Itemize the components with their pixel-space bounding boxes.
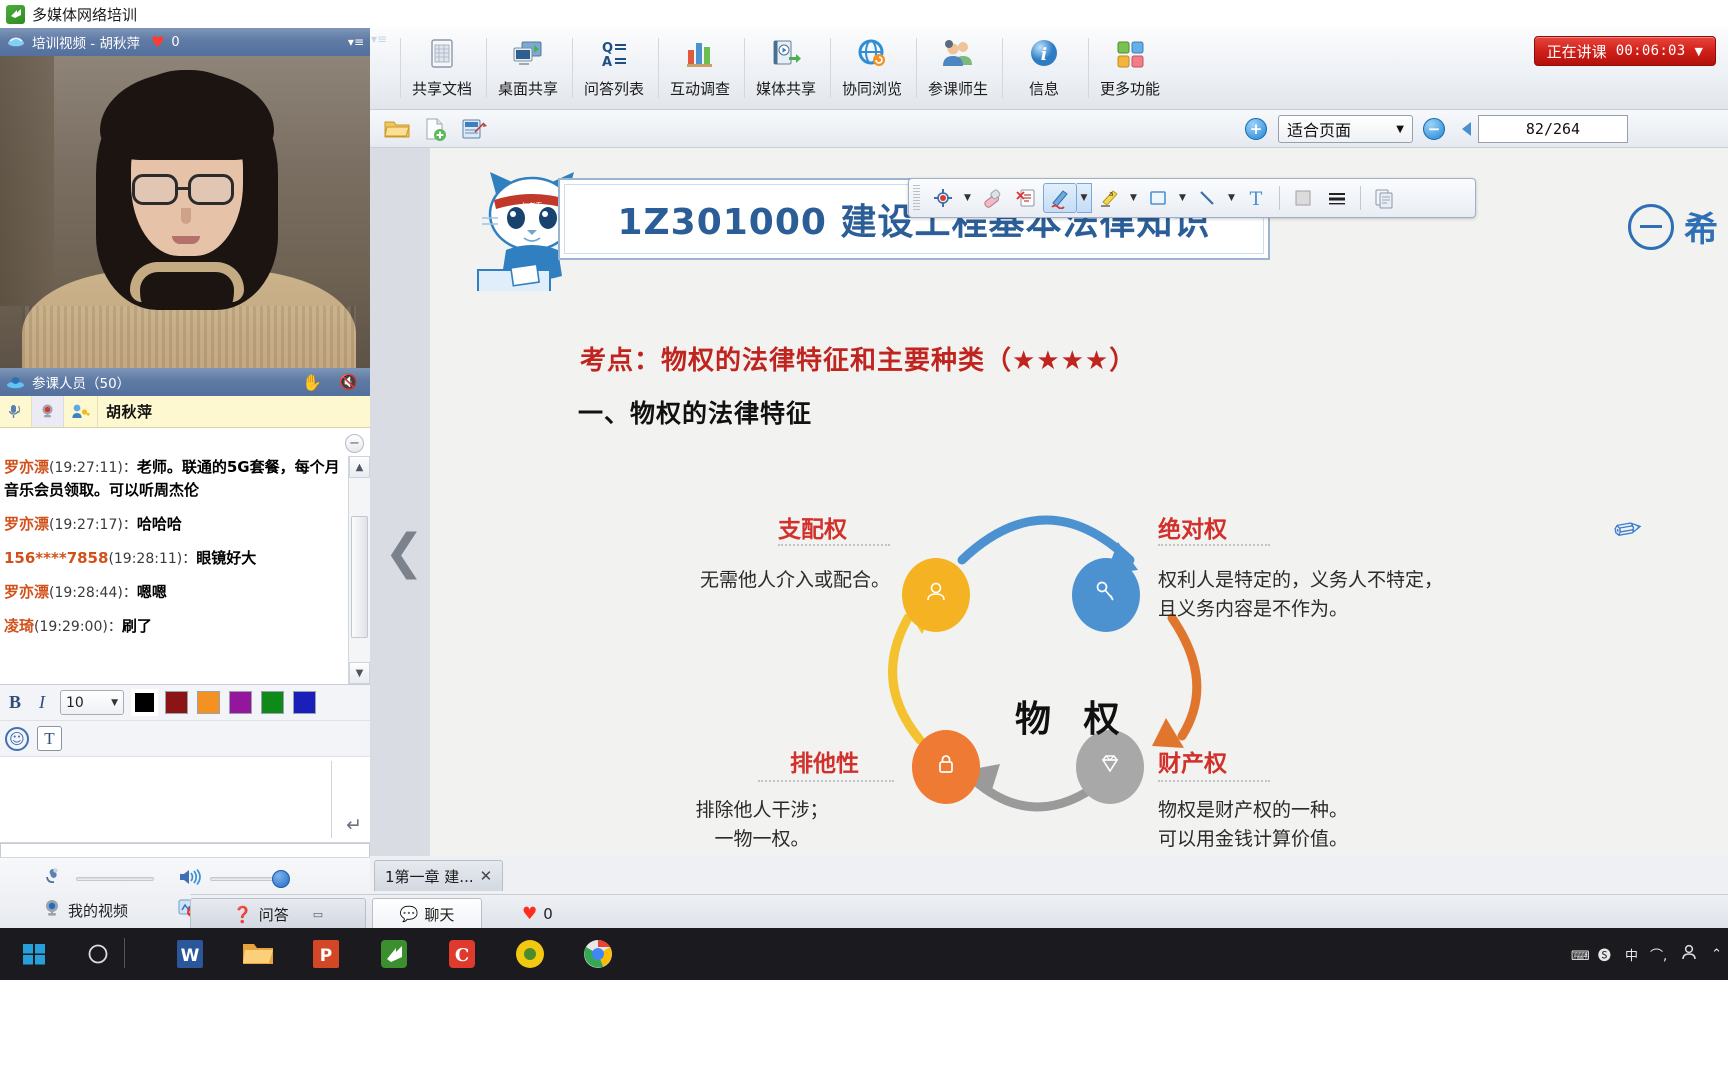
chat-message: 罗亦漂(19:27:11)：老师。联通的5G套餐，每个月音乐会员领取。可以听周杰…: [4, 456, 342, 502]
color-swatch-blue[interactable]: [293, 691, 316, 714]
page-indicator[interactable]: 82/264: [1478, 115, 1628, 143]
chat-time: (19:28:11): [108, 551, 182, 567]
chat-message: 罗亦漂(19:28:44)：嗯嗯: [4, 581, 342, 604]
brand-text: 希: [1684, 202, 1718, 251]
chat-time: (19:28:44): [49, 585, 123, 601]
c-app-icon[interactable]: C: [442, 934, 482, 974]
system-tray: ⌨ 🅢 中 ⌒, ⌃: [1571, 932, 1722, 976]
highlighter-icon[interactable]: a: [1092, 183, 1126, 213]
slide-prev-strip[interactable]: ❮: [370, 148, 430, 856]
ribbon-label: 参课师生: [928, 78, 988, 99]
heart-count: 0: [171, 35, 179, 50]
lock-icon: [934, 752, 958, 782]
slide-area: ❮ 仁者寿: [370, 148, 1728, 894]
qa-list-icon: QA: [594, 34, 634, 74]
collapse-icon[interactable]: −: [345, 434, 364, 453]
co-browse-icon: [852, 34, 892, 74]
open-folder-icon[interactable]: [382, 115, 412, 143]
video-panel-title: 培训视频 - 胡秋萍: [32, 32, 140, 52]
participants-icon: [6, 374, 25, 391]
file-explorer-icon[interactable]: [238, 934, 278, 974]
ribbon-item-attendees[interactable]: 参课师生: [918, 34, 998, 106]
app-logo-icon: [6, 5, 25, 24]
zoom-level-value: 适合页面: [1287, 117, 1351, 141]
my-video-icon[interactable]: [42, 898, 62, 922]
diagram-label-3: 财产权: [1158, 744, 1227, 778]
svg-text:T: T: [1250, 188, 1263, 209]
speaker-icon[interactable]: [178, 866, 202, 892]
text-tool-icon[interactable]: T: [1239, 183, 1273, 213]
fill-color-icon[interactable]: [1286, 183, 1320, 213]
chevron-down-icon: ▼: [111, 698, 118, 708]
zoom-out-icon[interactable]: −: [1423, 118, 1445, 140]
close-icon[interactable]: ✕: [480, 867, 493, 885]
heart-counter: ♥ 0: [522, 904, 553, 924]
bottom-tab-bar: ❓ 问答 ▭ 💬 聊天 ♥ 0: [190, 894, 1728, 928]
svg-text:W: W: [181, 946, 200, 966]
ribbon-label: 协同浏览: [842, 78, 902, 99]
chat-user: 凌琦: [4, 617, 34, 635]
diagram-desc-1: 权利人是特定的，义务人不特定，且义务内容是不作为。: [1158, 566, 1628, 623]
training-app-icon[interactable]: [374, 934, 414, 974]
raise-hand-icon[interactable]: ✋: [302, 373, 322, 392]
ribbon-label: 互动调查: [670, 78, 730, 99]
heart-icon: ♥: [151, 33, 164, 51]
chat-text: 哈哈哈: [137, 515, 182, 533]
chat-user: 156****7858: [4, 549, 108, 567]
chat-user: 罗亦漂: [4, 458, 49, 476]
chat-log: − 罗亦漂(19:27:11)：老师。联通的5G套餐，每个月音乐会员领取。可以听…: [0, 428, 370, 685]
participants-header: 参课人员（50） ✋ 🔇: [0, 368, 370, 396]
diagram-node-paitaxing: [912, 730, 980, 804]
color-swatch-green[interactable]: [261, 691, 284, 714]
svg-text:A: A: [602, 55, 612, 70]
status-timer: 00:06:03: [1616, 43, 1686, 59]
participant-row-speaker[interactable]: 胡秋萍: [0, 396, 370, 428]
app-title-bar: 多媒体网络培训: [0, 0, 1728, 28]
webcam-icon[interactable]: [32, 396, 64, 427]
eraser-icon[interactable]: [975, 183, 1009, 213]
chrome-icon[interactable]: [578, 934, 618, 974]
main-area: ▾≡ 共享文档 桌面共享 QA 问答列表 互动调查: [370, 28, 1728, 894]
attendees-icon: [938, 34, 978, 74]
diagram-desc-0: 无需他人介入或配合。: [550, 566, 890, 595]
my-video-label[interactable]: 我的视频: [68, 900, 128, 921]
copy-slide-icon[interactable]: [1367, 183, 1401, 213]
slide-heading: 一、物权的法律特征: [578, 394, 812, 430]
diagram-node-juedui: [1072, 558, 1140, 632]
ribbon-item-media-share[interactable]: 媒体共享: [746, 34, 826, 106]
color-swatch-black[interactable]: [133, 691, 156, 714]
shared-document-icon: [422, 34, 462, 74]
person-icon: [923, 579, 949, 611]
clear-annotations-icon[interactable]: [1009, 183, 1043, 213]
text-format-icon[interactable]: T: [37, 726, 62, 751]
info-icon: i: [1024, 34, 1064, 74]
font-size-select[interactable]: 10 ▼: [60, 690, 124, 715]
previous-slide-icon[interactable]: ❮: [384, 528, 424, 576]
chat-user: 罗亦漂: [4, 583, 49, 601]
taskbar-strip: W P C ⌨ 🅢 中 ⌒, ⌃: [0, 928, 1728, 980]
font-size-value: 10: [66, 695, 84, 711]
chat-text: 眼镜好大: [196, 549, 256, 567]
chat-time: (19:29:00): [34, 619, 108, 635]
smiley-icon[interactable]: ☺: [5, 727, 29, 751]
word-icon[interactable]: W: [170, 934, 210, 974]
svg-text:仁者寿: 仁者寿: [522, 201, 543, 210]
ribbon-label: 更多功能: [1100, 78, 1160, 99]
chat-text: 嗯嗯: [137, 583, 167, 601]
new-document-icon[interactable]: [420, 115, 450, 143]
video-camera-icon: [6, 34, 25, 51]
convert-document-icon[interactable]: [458, 115, 488, 143]
status-label: 正在讲课: [1547, 41, 1607, 62]
ribbon-label: 信息: [1029, 78, 1059, 99]
search-circle-icon[interactable]: [78, 934, 118, 974]
svg-text:P: P: [320, 946, 332, 966]
diagram-desc-3: 物权是财产权的一种。可以用金钱计算价值。: [1158, 796, 1628, 853]
pen-icon[interactable]: [1043, 183, 1077, 213]
annotation-toolbar: ▼ ▼ a ▼ ▼: [908, 178, 1476, 218]
italic-button[interactable]: I: [33, 692, 51, 713]
diagram-label-2: 排他性: [790, 744, 859, 778]
speaker-slider-knob[interactable]: [272, 870, 290, 888]
scroll-down-icon[interactable]: ▼: [349, 662, 370, 684]
microphone-icon[interactable]: [42, 866, 64, 892]
mute-all-icon[interactable]: 🔇: [339, 373, 358, 391]
color-swatch-darkred[interactable]: [165, 691, 188, 714]
document-navbar: + 适合页面 ▼ − 82/264: [370, 110, 1728, 148]
chat-time: (19:27:17): [49, 517, 123, 533]
chat-bubble-icon: 💬: [400, 905, 419, 923]
panel-menu-icon[interactable]: ▾≡: [348, 35, 364, 49]
browser-green-icon[interactable]: [510, 934, 550, 974]
participants-title: 参课人员（50）: [32, 372, 130, 392]
chevron-up-icon[interactable]: ⌃: [1711, 947, 1722, 962]
chat-message: 156****7858(19:28:11)：眼镜好大: [4, 547, 342, 570]
document-tab[interactable]: 1第一章 建... ✕: [374, 860, 503, 891]
microphone-icon[interactable]: [0, 396, 32, 427]
laser-pointer-icon[interactable]: [926, 183, 960, 213]
left-panel: 培训视频 - 胡秋萍 ♥ 0 ▾≡ 参课人员（50） ✋ 🔇: [0, 28, 370, 928]
survey-chart-icon: [680, 34, 720, 74]
color-swatch-purple[interactable]: [229, 691, 252, 714]
svg-text:Q: Q: [602, 41, 613, 56]
ime-icon[interactable]: 中: [1625, 945, 1638, 964]
app-title: 多媒体网络培训: [32, 4, 137, 25]
chat-message-list: 罗亦漂(19:27:11)：老师。联通的5G套餐，每个月音乐会员领取。可以听周杰…: [4, 456, 342, 649]
restore-window-icon[interactable]: ▭: [313, 908, 323, 921]
bold-button[interactable]: B: [6, 692, 24, 713]
chat-time: (19:27:11): [49, 460, 123, 476]
ribbon-collapse-icon[interactable]: ▾≡: [370, 28, 388, 50]
scroll-up-icon[interactable]: ▲: [349, 456, 370, 478]
qa-icon: ❓: [233, 905, 253, 924]
tab-chat-label: 聊天: [424, 904, 454, 925]
video-panel-header: 培训视频 - 胡秋萍 ♥ 0 ▾≡: [0, 28, 370, 56]
diamond-icon: [1097, 753, 1123, 781]
page-indicator-value: 82/264: [1526, 120, 1580, 138]
ribbon-item-desktop-share[interactable]: 桌面共享: [488, 34, 568, 106]
status-button-teaching[interactable]: 正在讲课 00:06:03 ▼: [1534, 36, 1716, 66]
tab-chat[interactable]: 💬 聊天: [372, 898, 482, 929]
diagram-node-zhipeiquan: [902, 558, 970, 632]
chevron-down-icon[interactable]: ▼: [1224, 183, 1239, 213]
chevron-down-icon[interactable]: ▼: [1077, 183, 1092, 213]
slide-canvas[interactable]: 仁者寿 1Z301000 建设工程基本法律知识 希: [430, 148, 1728, 856]
chevron-down-icon[interactable]: ▼: [1126, 183, 1141, 213]
chevron-down-icon[interactable]: ▼: [1175, 183, 1190, 213]
color-swatch-orange[interactable]: [197, 691, 220, 714]
powerpoint-icon[interactable]: P: [306, 934, 346, 974]
svg-text:i: i: [1041, 45, 1047, 65]
slide-keypoint: 考点：物权的法律特征和主要种类（★★★★）: [580, 340, 1136, 377]
chevron-down-icon[interactable]: ▼: [960, 183, 975, 213]
tray-icons[interactable]: ⌨ 🅢: [1571, 945, 1613, 964]
ribbon-item-qa-list[interactable]: QA 问答列表: [574, 34, 654, 106]
chat-message: 罗亦漂(19:27:17)：哈哈哈: [4, 513, 342, 536]
rectangle-icon[interactable]: [1141, 183, 1175, 213]
line-icon[interactable]: [1190, 183, 1224, 213]
document-tab-label: 1第一章 建...: [385, 866, 474, 887]
scrollbar-thumb[interactable]: [351, 516, 368, 638]
drag-grip-icon[interactable]: [913, 185, 920, 211]
ribbon-toolbar: ▾≡ 共享文档 桌面共享 QA 问答列表 互动调查: [370, 28, 1728, 110]
svg-text:a: a: [1109, 190, 1113, 198]
chat-insert-toolbar: ☺ T: [0, 721, 370, 757]
diagram-center-label: 物 权: [1015, 690, 1130, 742]
line-weight-icon[interactable]: [1320, 183, 1354, 213]
ribbon-item-co-browse[interactable]: 协同浏览: [832, 34, 912, 106]
chat-message: 凌琦(19:29:00)：刷了: [4, 615, 342, 638]
zoom-level-select[interactable]: 适合页面 ▼: [1278, 115, 1413, 143]
brand-ring-icon: [1628, 204, 1674, 250]
participant-name: 胡秋萍: [106, 401, 153, 422]
ribbon-label: 共享文档: [412, 78, 472, 99]
chevron-down-icon: ▼: [1396, 124, 1404, 135]
chat-scrollbar[interactable]: ▲ ▼: [348, 456, 370, 684]
chat-user: 罗亦漂: [4, 515, 49, 533]
microphone-slider[interactable]: [76, 877, 154, 881]
windows-start-icon[interactable]: [14, 934, 54, 974]
chat-text: 刷了: [122, 617, 152, 635]
tab-qa-label: 问答: [259, 904, 289, 925]
windows-taskbar: W P C ⌨ 🅢 中 ⌒, ⌃: [0, 928, 1728, 1080]
ribbon-item-more[interactable]: 更多功能: [1090, 34, 1170, 106]
ribbon-item-survey[interactable]: 互动调查: [660, 34, 740, 106]
video-feed: [0, 56, 370, 368]
heart-count: 0: [543, 905, 553, 923]
ribbon-label: 桌面共享: [498, 78, 558, 99]
chat-compose-area[interactable]: ↵: [0, 757, 370, 843]
ribbon-label: 问答列表: [584, 78, 644, 99]
diagram-label-0: 支配权: [778, 510, 847, 544]
diagram-label-1: 绝对权: [1158, 510, 1227, 544]
user-account-icon[interactable]: [1679, 942, 1699, 966]
chevron-down-icon[interactable]: ▼: [1695, 45, 1703, 58]
diagram-desc-2: 排除他人干涉；一物一权。: [630, 796, 894, 853]
ribbon-item-info[interactable]: i 信息: [1004, 34, 1084, 106]
presenter-key-icon: [64, 396, 98, 427]
heart-icon: ♥: [522, 904, 537, 924]
ribbon-item-shared-document[interactable]: 共享文档: [402, 34, 482, 106]
svg-text:C: C: [455, 945, 469, 966]
ribbon-label: 媒体共享: [756, 78, 816, 99]
media-share-icon: [766, 34, 806, 74]
more-features-icon: [1110, 34, 1150, 74]
brand-logo: 希: [1628, 202, 1718, 251]
enter-key-icon[interactable]: ↵: [346, 814, 362, 836]
concept-diagram: 支配权 无需他人介入或配合。 绝对权 权利人是特定的，义务人不特定，且义务内容是…: [490, 428, 1728, 828]
zoom-in-icon[interactable]: +: [1245, 118, 1267, 140]
desktop-share-icon: [508, 34, 548, 74]
ime-mode-icon[interactable]: ⌒,: [1650, 945, 1667, 964]
tab-qa[interactable]: ❓ 问答 ▭: [190, 898, 366, 929]
key-icon: [1093, 579, 1119, 611]
chat-format-toolbar: B I 10 ▼: [0, 685, 370, 721]
